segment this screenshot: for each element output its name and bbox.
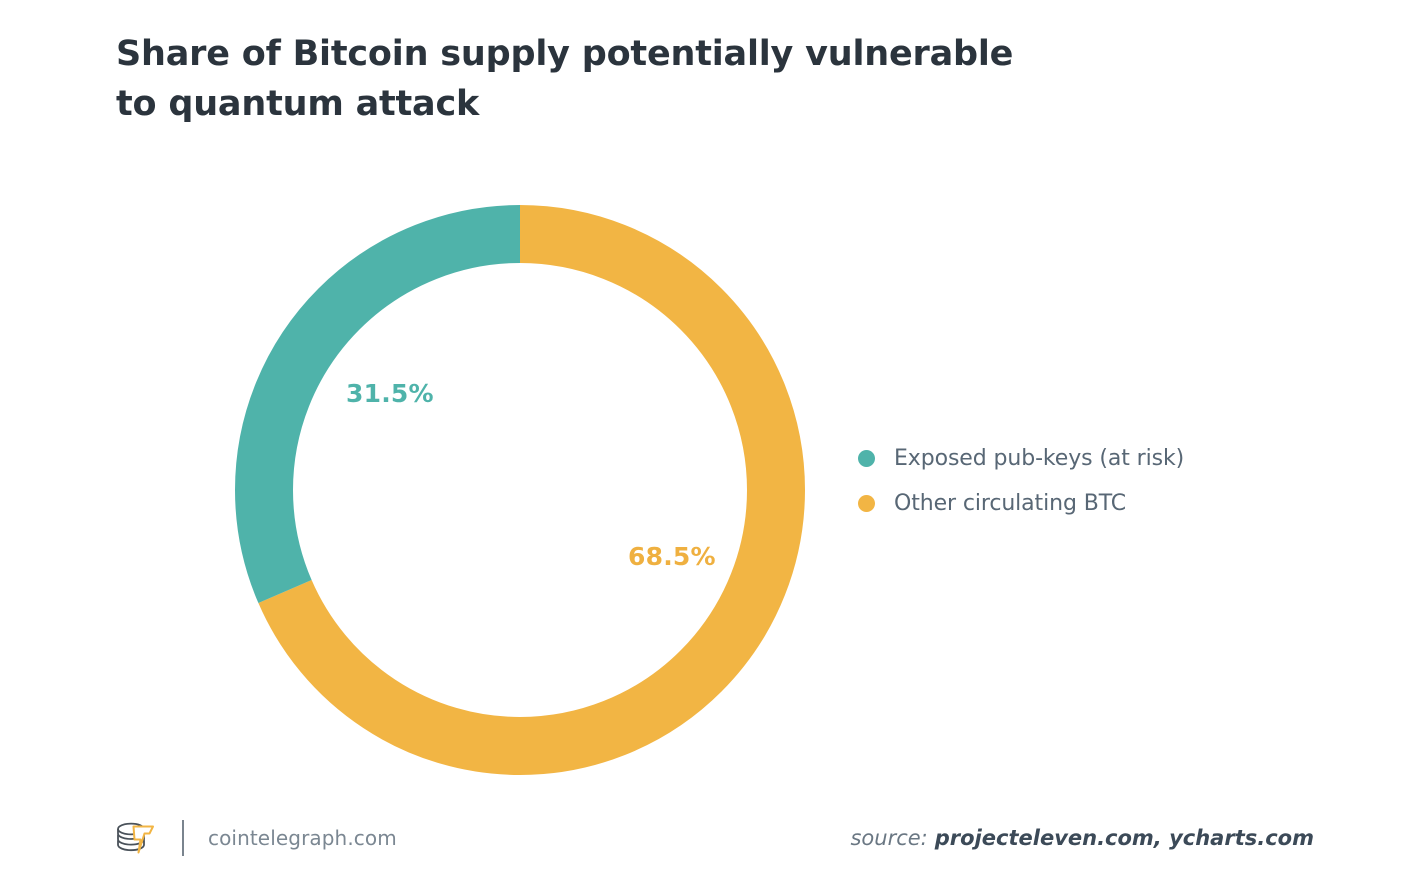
source-value-label: projecteleven.com, ycharts.com [935, 826, 1314, 850]
brand-name: cointelegraph.com [208, 826, 397, 850]
divider [182, 820, 184, 856]
donut-chart [235, 205, 805, 775]
legend-item-other-circulating-btc[interactable]: Other circulating BTC [858, 491, 1184, 516]
circle-dot-icon [858, 495, 875, 512]
data-label-other-circulating-btc: 68.5% [628, 542, 716, 571]
cointelegraph-coin-stack-bolt-logo [114, 817, 160, 859]
data-label-exposed-pub-keys: 31.5% [346, 379, 434, 408]
footer: cointelegraph.com source: projecteleven.… [0, 810, 1428, 870]
legend-label-other-circulating-btc: Other circulating BTC [894, 491, 1126, 516]
chart-plot-area: 31.5% 68.5% Exposed pub-keys (at risk) O… [0, 0, 1428, 888]
source-prefix-label: source: [850, 826, 927, 850]
legend-label-exposed-pub-keys: Exposed pub-keys (at risk) [894, 446, 1184, 471]
circle-dot-icon [858, 450, 875, 467]
brand-block: cointelegraph.com [114, 810, 397, 866]
source-attribution: source: projecteleven.com, ycharts.com [850, 810, 1314, 866]
legend-item-exposed-pub-keys[interactable]: Exposed pub-keys (at risk) [858, 446, 1184, 471]
chart-legend: Exposed pub-keys (at risk) Other circula… [858, 446, 1184, 516]
